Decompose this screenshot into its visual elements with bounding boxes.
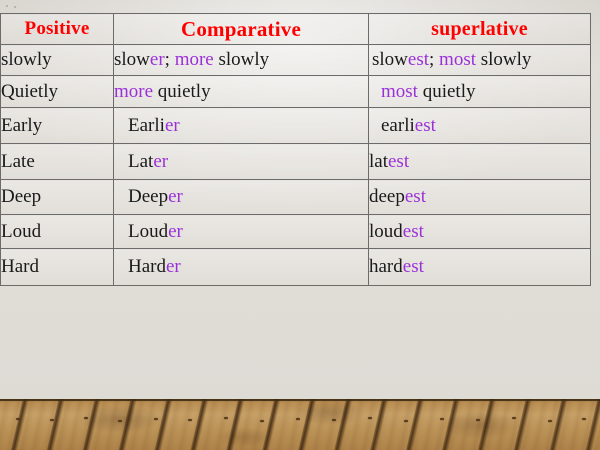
cell-superlative: most quietly <box>369 76 591 108</box>
cell-comparative: Earlier <box>114 108 369 144</box>
comparative-suffix: er <box>165 115 180 136</box>
superlative-stem: hard <box>369 256 403 277</box>
cell-superlative: latest <box>369 144 591 180</box>
speckle-artifact <box>14 6 16 8</box>
cell-positive: Quietly <box>1 76 114 108</box>
comparative-separator: ; <box>165 49 175 70</box>
column-header-positive: Positive <box>1 14 114 45</box>
table-row: Late Later latest <box>1 144 591 180</box>
table-header-row: Positive Comparative superlative <box>1 14 591 45</box>
comparative-suffix: er <box>150 49 165 70</box>
cell-superlative: loudest <box>369 215 591 249</box>
comparative-suffix: er <box>168 221 183 242</box>
cell-comparative: Later <box>114 144 369 180</box>
comparative-stem: slow <box>114 49 150 70</box>
cell-superlative: hardest <box>369 249 591 286</box>
table-row: slowly slower; more slowly slowest; most… <box>1 45 591 76</box>
comparative-suffix: er <box>166 256 181 277</box>
cell-positive: Hard <box>1 249 114 286</box>
comparative-stem: Lat <box>128 151 153 172</box>
superlative-periphrastic-word: most <box>381 81 418 102</box>
cell-superlative: earliest <box>369 108 591 144</box>
superlative-stem: slow <box>372 49 408 70</box>
column-header-superlative: superlative <box>369 14 591 45</box>
comparative-suffix: er <box>153 151 168 172</box>
cell-positive: slowly <box>1 45 114 76</box>
cell-comparative: slower; more slowly <box>114 45 369 76</box>
comparative-stem: Hard <box>128 256 166 277</box>
superlative-periphrastic-tail: quietly <box>418 81 476 102</box>
superlative-stem: lat <box>369 151 388 172</box>
comparative-stem: Deep <box>128 186 168 207</box>
superlative-stem: deep <box>369 186 405 207</box>
slide-canvas: Positive Comparative superlative slowly … <box>0 0 600 450</box>
superlative-separator: ; <box>429 49 439 70</box>
table-head: Positive Comparative superlative <box>1 14 591 45</box>
column-header-comparative: Comparative <box>114 14 369 45</box>
cell-comparative: Harder <box>114 249 369 286</box>
superlative-suffix: est <box>415 115 436 136</box>
table-row: Quietly more quietly most quietly <box>1 76 591 108</box>
cell-comparative: Louder <box>114 215 369 249</box>
superlative-suffix: est <box>403 256 424 277</box>
cell-positive: Deep <box>1 180 114 215</box>
table-row: Hard Harder hardest <box>1 249 591 286</box>
adverb-table-container: Positive Comparative superlative slowly … <box>0 13 590 286</box>
comparative-periphrastic-tail: slowly <box>214 49 269 70</box>
comparative-periphrastic-word: more <box>114 81 153 102</box>
superlative-stem: earli <box>381 115 415 136</box>
table-row: Loud Louder loudest <box>1 215 591 249</box>
superlative-suffix: est <box>388 151 409 172</box>
superlative-suffix: est <box>403 221 424 242</box>
comparative-stem: Earli <box>128 115 165 136</box>
comparative-stem: Loud <box>128 221 168 242</box>
wooden-floor <box>0 399 600 450</box>
cell-superlative: deepest <box>369 180 591 215</box>
table-row: Deep Deeper deepest <box>1 180 591 215</box>
cell-comparative: Deeper <box>114 180 369 215</box>
cell-positive: Loud <box>1 215 114 249</box>
comparative-periphrastic-tail: quietly <box>153 81 211 102</box>
superlative-periphrastic-word: most <box>439 49 476 70</box>
cell-positive: Late <box>1 144 114 180</box>
superlative-periphrastic-tail: slowly <box>476 49 531 70</box>
speckle-artifact <box>6 5 8 7</box>
superlative-suffix: est <box>405 186 426 207</box>
table-row: Early Earlier earliest <box>1 108 591 144</box>
floor-nail-heads <box>0 399 600 450</box>
table-body: slowly slower; more slowly slowest; most… <box>1 45 591 286</box>
superlative-suffix: est <box>408 49 429 70</box>
comparative-suffix: er <box>168 186 183 207</box>
cell-positive: Early <box>1 108 114 144</box>
cell-superlative: slowest; most slowly <box>369 45 591 76</box>
comparative-periphrastic-word: more <box>175 49 214 70</box>
nail-head-dots <box>0 399 600 450</box>
superlative-stem: loud <box>369 221 403 242</box>
cell-comparative: more quietly <box>114 76 369 108</box>
adverb-degrees-table: Positive Comparative superlative slowly … <box>0 13 591 286</box>
floor-wall-joint-line <box>0 399 600 401</box>
